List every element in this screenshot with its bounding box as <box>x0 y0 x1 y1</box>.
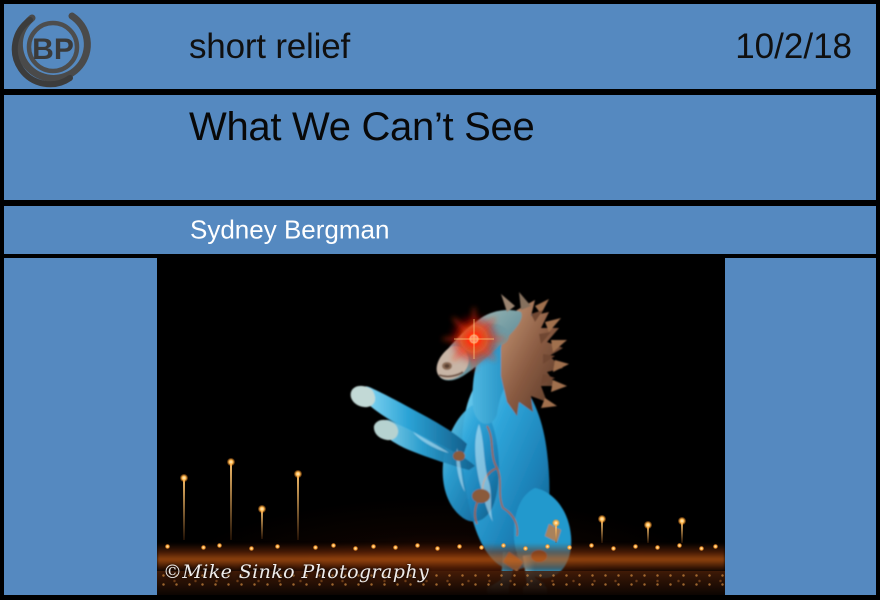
publish-date: 10/2/18 <box>735 27 852 67</box>
article-photo: ©Mike Sinko Photography <box>157 256 725 595</box>
article-card: BP short relief 10/2/18 What We Can’t Se… <box>0 0 880 600</box>
section-kicker[interactable]: short relief <box>189 27 350 67</box>
article-title[interactable]: What We Can’t See <box>189 105 534 150</box>
author-band: Sydney Bergman <box>4 206 876 254</box>
baseball-prospectus-logo[interactable]: BP <box>10 6 96 88</box>
city-lights <box>157 256 725 595</box>
title-band: What We Can’t See <box>4 95 876 200</box>
header-band: BP short relief 10/2/18 <box>4 4 876 89</box>
article-author[interactable]: Sydney Bergman <box>190 215 389 246</box>
photo-watermark: ©Mike Sinko Photography <box>163 561 429 583</box>
logo-letters: BP <box>32 33 74 66</box>
